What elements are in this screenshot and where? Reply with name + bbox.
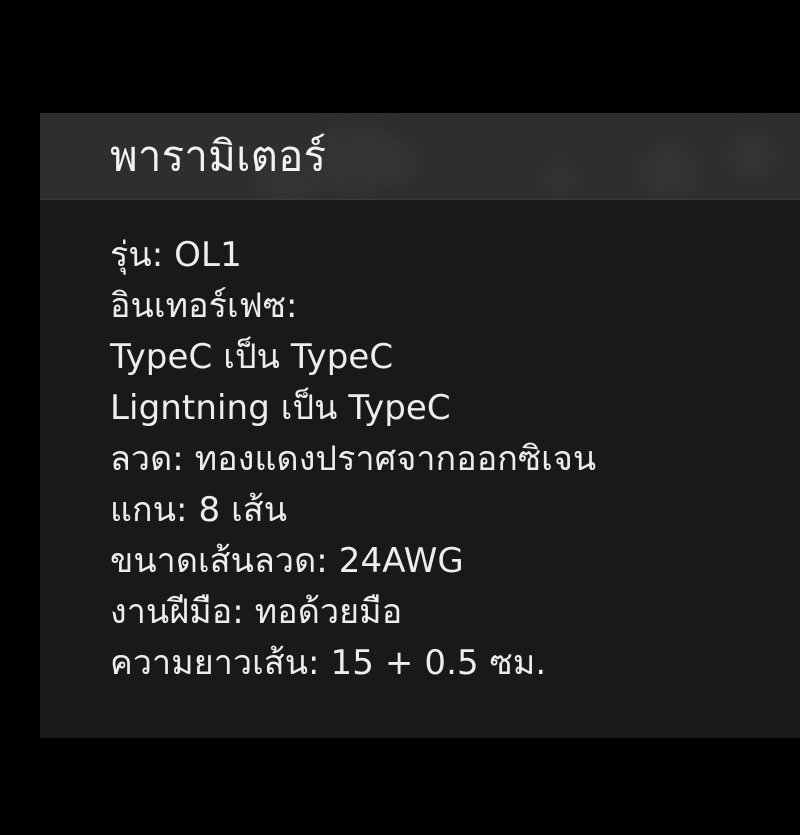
card-body: รุ่น: OL1 อินเทอร์เฟซ: TypeC เป็น TypeC … [40, 200, 800, 715]
list-item: ความยาวเส้น: 15 + 0.5 ซม. [110, 638, 760, 689]
list-item: Ligntning เป็น TypeC [110, 383, 760, 434]
header-ghost-artifact [372, 139, 418, 185]
screen: พารามิเตอร์ รุ่น: OL1 อินเทอร์เฟซ: TypeC… [0, 0, 800, 835]
header-ghost-artifact [540, 161, 580, 197]
list-item: ลวด: ทองแดงปราศจากออกซิเจน [110, 434, 760, 485]
parameters-spec-card: พารามิเตอร์ รุ่น: OL1 อินเทอร์เฟซ: TypeC… [40, 113, 800, 738]
list-item: รุ่น: OL1 [110, 230, 760, 281]
page-title: พารามิเตอร์ [110, 132, 326, 179]
list-item: งานฝีมือ: ทอด้วยมือ [110, 587, 760, 638]
list-item: ขนาดเส้นลวด: 24AWG [110, 536, 760, 587]
header-ghost-artifact [730, 131, 774, 181]
list-item: แกน: 8 เส้น [110, 485, 760, 536]
header-ghost-artifact [640, 143, 698, 200]
card-header: พารามิเตอร์ [40, 113, 800, 200]
list-item: TypeC เป็น TypeC [110, 332, 760, 383]
spec-list: รุ่น: OL1 อินเทอร์เฟซ: TypeC เป็น TypeC … [110, 230, 760, 689]
list-item: อินเทอร์เฟซ: [110, 281, 760, 332]
